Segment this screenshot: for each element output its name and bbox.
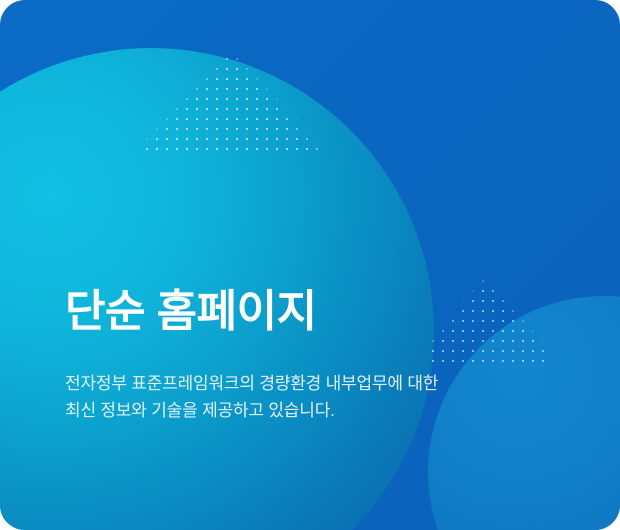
hero-subtitle-line-1: 전자정부 표준프레임워크의 경량환경 내부업무에 대한 — [65, 370, 565, 397]
page-title: 단순 홈페이지 — [65, 286, 585, 337]
hero-subtitle-line-2: 최신 정보와 기술을 제공하고 있습니다. — [65, 397, 565, 424]
hero-content: 단순 홈페이지 전자정부 표준프레임워크의 경량환경 내부업무에 대한 최신 정… — [65, 286, 585, 424]
hero-banner: 단순 홈페이지 전자정부 표준프레임워크의 경량환경 내부업무에 대한 최신 정… — [0, 0, 620, 530]
diamond-dot-grid-top — [142, 0, 318, 156]
hero-subtitle: 전자정부 표준프레임워크의 경량환경 내부업무에 대한 최신 정보와 기술을 제… — [65, 337, 565, 424]
